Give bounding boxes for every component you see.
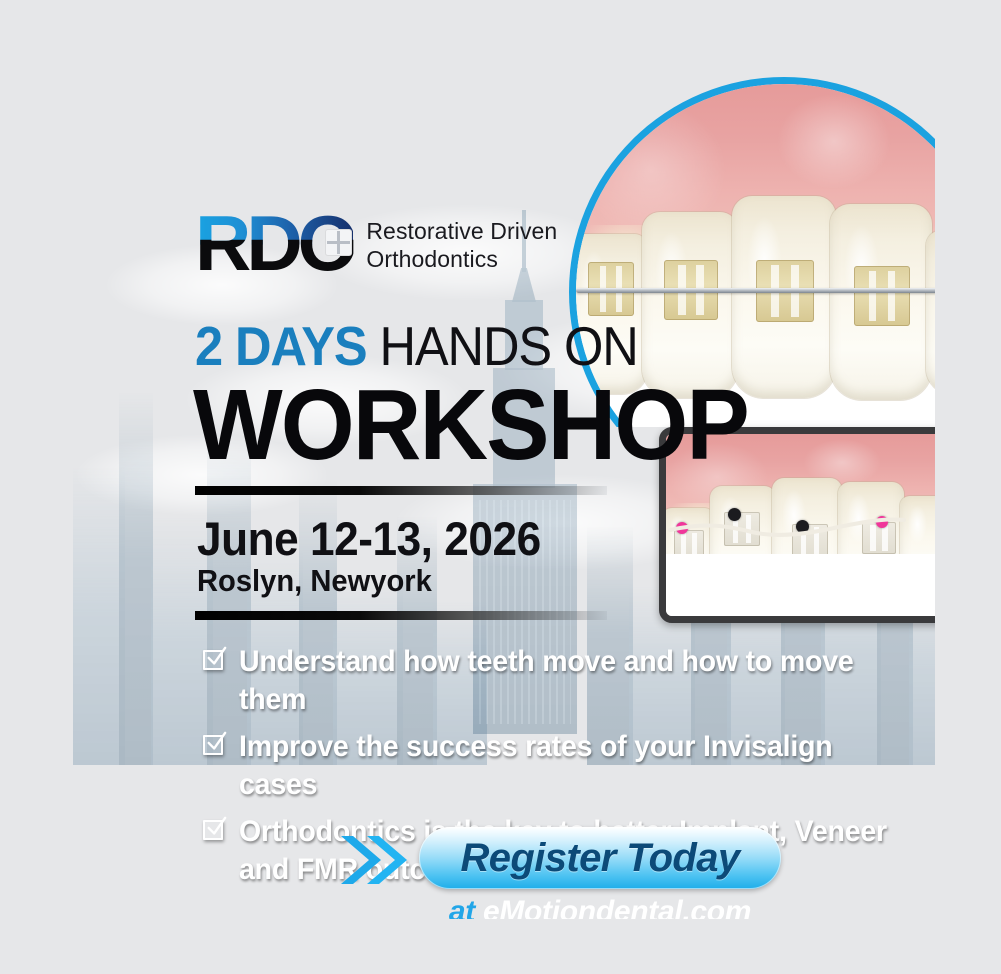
website-line[interactable]: at eMotiondental.com	[419, 895, 781, 919]
benefit-text: Understand how teeth move and how to mov…	[239, 643, 889, 719]
checkbox-checked-icon	[203, 820, 225, 842]
headline-primary: 2 DAYS HANDS ON	[195, 317, 638, 375]
headline-highlight: 2 DAYS	[195, 315, 367, 377]
brand-tagline: Restorative Driven Orthodontics	[366, 214, 557, 273]
event-location: Roslyn, Newyork	[197, 563, 432, 599]
promo-card: RDO RDO RDO Restorative Driven Orthodont…	[67, 55, 935, 919]
brand-tagline-line2: Orthodontics	[366, 245, 557, 273]
brand-logo: RDO RDO RDO Restorative Driven Orthodont…	[195, 203, 557, 283]
checkbox-checked-icon	[203, 650, 225, 672]
rdo-wordmark: RDO RDO RDO	[195, 203, 353, 283]
poster-canvas: RDO RDO RDO Restorative Driven Orthodont…	[0, 0, 1001, 974]
headline-workshop: WORKSHOP	[193, 373, 748, 477]
register-button-label: Register Today	[460, 836, 739, 881]
divider-top	[195, 486, 607, 495]
checkbox-checked-icon	[203, 735, 225, 757]
double-chevron-right-icon	[339, 834, 411, 886]
website-domain: eMotiondental.com	[483, 895, 751, 919]
divider-bottom	[195, 611, 607, 620]
event-date: June 12-13, 2026	[197, 513, 541, 565]
register-today-button[interactable]: Register Today	[419, 827, 781, 889]
benefit-text: Improve the success rates of your Invisa…	[239, 728, 889, 804]
website-prefix: at	[449, 895, 475, 919]
brand-tagline-line1: Restorative Driven	[366, 217, 557, 245]
headline-rest: HANDS ON	[367, 315, 638, 377]
bracket-square-icon	[325, 229, 352, 256]
list-item: Improve the success rates of your Invisa…	[203, 728, 923, 804]
list-item: Understand how teeth move and how to mov…	[203, 643, 923, 719]
